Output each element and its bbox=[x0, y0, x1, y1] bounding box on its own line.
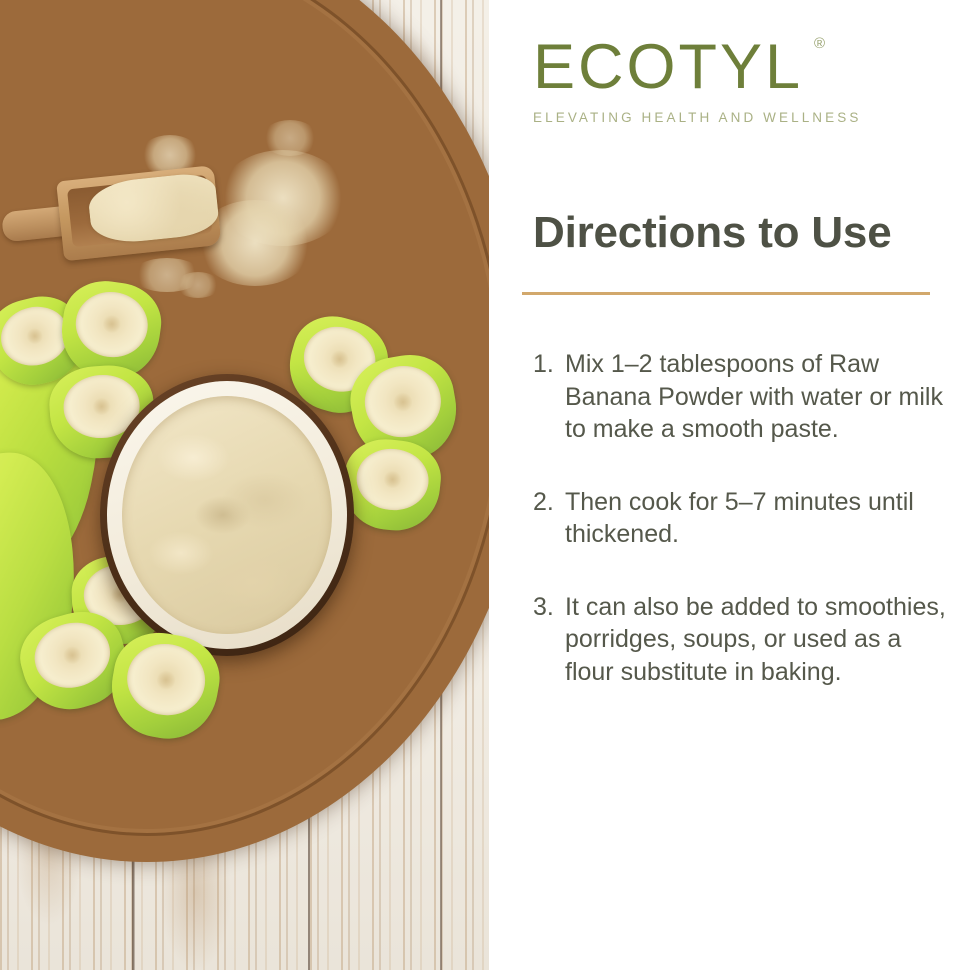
product-photo bbox=[0, 0, 489, 970]
list-item-marker: 1. bbox=[533, 348, 565, 446]
list-item: 1. Mix 1–2 tablespoons of Raw Banana Pow… bbox=[533, 348, 953, 446]
brand-wordmark: ECOTYL ® bbox=[533, 34, 803, 101]
page-title: Directions to Use bbox=[533, 208, 891, 258]
list-item-text: Mix 1–2 tablespoons of Raw Banana Powder… bbox=[565, 348, 953, 446]
brand-logo: ECOTYL ® ELEVATING HEALTH AND WELLNESS bbox=[533, 34, 933, 125]
list-item-marker: 3. bbox=[533, 591, 565, 689]
list-item-marker: 2. bbox=[533, 486, 565, 551]
title-divider bbox=[522, 292, 930, 295]
directions-list: 1. Mix 1–2 tablespoons of Raw Banana Pow… bbox=[533, 348, 953, 688]
brand-name: ECOTYL bbox=[533, 32, 803, 102]
bowl-inner bbox=[107, 381, 347, 649]
banana-powder bbox=[122, 396, 332, 634]
list-item: 2. Then cook for 5–7 minutes until thick… bbox=[533, 486, 953, 551]
content-panel: ECOTYL ® ELEVATING HEALTH AND WELLNESS D… bbox=[489, 0, 971, 970]
infographic-page: ECOTYL ® ELEVATING HEALTH AND WELLNESS D… bbox=[0, 0, 971, 970]
list-item-text: Then cook for 5–7 minutes until thickene… bbox=[565, 486, 953, 551]
scattered-powder bbox=[176, 272, 220, 298]
banana-slice bbox=[104, 626, 226, 747]
banana-slice bbox=[340, 435, 445, 535]
registered-trademark-icon: ® bbox=[814, 36, 825, 52]
list-item-text: It can also be added to smoothies, porri… bbox=[565, 591, 953, 689]
brand-tagline: ELEVATING HEALTH AND WELLNESS bbox=[533, 110, 933, 125]
bowl-of-powder bbox=[100, 374, 354, 656]
list-item: 3. It can also be added to smoothies, po… bbox=[533, 591, 953, 689]
scattered-powder bbox=[262, 120, 318, 156]
